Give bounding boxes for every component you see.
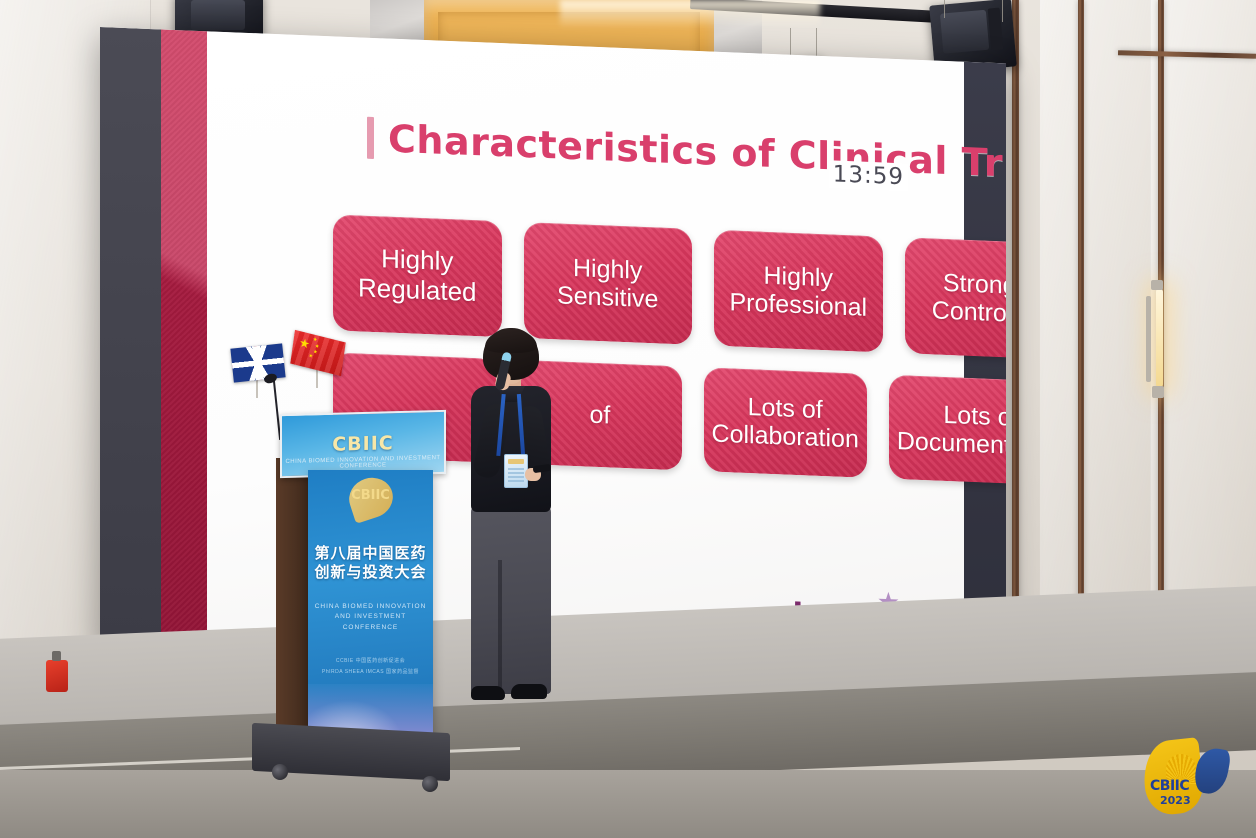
podium-caster-left	[272, 764, 288, 780]
watermark-brand: CBIIC	[1150, 778, 1189, 794]
sconce-cap-bottom	[1152, 386, 1164, 398]
watermark-year: 2023	[1160, 794, 1191, 807]
presenter	[449, 328, 569, 738]
sconce-cap-top	[1151, 280, 1163, 290]
flag-china-star-large: ★	[298, 336, 310, 351]
page-title: Characteristics of Clinical Trials	[388, 117, 1006, 189]
podium-top-brand: CBIIC	[332, 432, 394, 456]
trait-label: Highly Sensitive	[557, 253, 658, 314]
sconce-bracket	[1146, 296, 1151, 382]
slide-clock: 13:59	[829, 160, 908, 191]
speaker-wire-b	[1002, 0, 1003, 22]
presenter-shoe-left	[471, 686, 505, 700]
trait-box-highly-sensitive: Highly Sensitive	[524, 222, 693, 345]
speaker-handle-right	[988, 8, 1004, 51]
cbiic-watermark: CBIIC 2023	[1138, 736, 1234, 820]
speaker-wire-a	[944, 0, 945, 18]
trait-label: Highly Professional	[729, 260, 867, 323]
conference-stage-photo: Characteristics of Clinical Trials 13:59…	[0, 0, 1256, 838]
trait-box-strongly-controlled: Strongly Controlled	[905, 237, 1007, 360]
presenter-trousers	[471, 504, 551, 694]
characteristics-row-1: Highly Regulated Highly Sensitive Highly…	[333, 214, 1006, 360]
wall-sconce-light	[1156, 288, 1163, 388]
trait-label: Lots of Documentation	[897, 399, 1006, 463]
podium-top-banner: CBIIC CHINA BIOMED INNOVATION AND INVEST…	[280, 410, 446, 478]
flag-uk	[230, 343, 285, 382]
podium-banner-title-en: CHINA BIOMED INNOVATION AND INVESTMENT C…	[308, 602, 433, 633]
speaker-horn-left	[191, 0, 245, 30]
ceiling-cove-light	[560, 0, 820, 28]
podium-banner-title-cn: 第八届中国医药 创新与投资大会	[308, 544, 433, 582]
presenter-hair-fringe	[485, 330, 537, 353]
podium-front-banner: CBIIC 第八届中国医药 创新与投资大会 CHINA BIOMED INNOV…	[308, 470, 433, 742]
podium-wood-side	[276, 458, 312, 758]
presenter-trouser-seam	[498, 560, 502, 694]
podium-top-subtitle: CHINA BIOMED INNOVATION AND INVESTMENT C…	[282, 455, 444, 471]
wood-column-1	[1012, 0, 1019, 660]
wood-column-2	[1078, 0, 1084, 640]
flag-china-star-4: ★	[308, 354, 313, 360]
speaker-horn-right	[940, 10, 989, 54]
screen-frame-dark-band	[100, 27, 161, 649]
trait-box-highly-regulated: Highly Regulated	[333, 214, 502, 337]
podium-banner-sponsors: CCBIE 中国医药创新促进会 PhIRDA SHEEA IMCAS 国家药品监…	[308, 656, 433, 677]
presenter-shoe-right	[511, 684, 547, 699]
screen-frame-red-band	[161, 29, 207, 651]
fire-extinguisher	[46, 660, 68, 692]
trait-label: Highly Regulated	[358, 244, 477, 308]
podium-caster-right	[422, 776, 438, 792]
lectern-podium: ★ ★ ★ ★ ★ CBIIC CHINA BIOMED INNOVATION …	[232, 398, 444, 798]
title-accent-bar-icon	[367, 117, 374, 159]
trait-label: of	[589, 400, 610, 429]
trait-box-lots-of-documentation: Lots of Documentation	[889, 375, 1006, 486]
hall-floor	[0, 770, 1256, 838]
slide-title-group: Characteristics of Clinical Trials	[367, 116, 1006, 189]
trait-box-highly-professional: Highly Professional	[714, 230, 883, 353]
flag-china-star-3: ★	[313, 350, 318, 356]
podium-banner-brand: CBIIC	[308, 488, 433, 503]
trait-label: Strongly Controlled	[932, 268, 1006, 330]
trait-box-lots-of-collaboration: Lots of Collaboration	[704, 367, 867, 478]
trait-label: Lots of Collaboration	[712, 391, 859, 454]
